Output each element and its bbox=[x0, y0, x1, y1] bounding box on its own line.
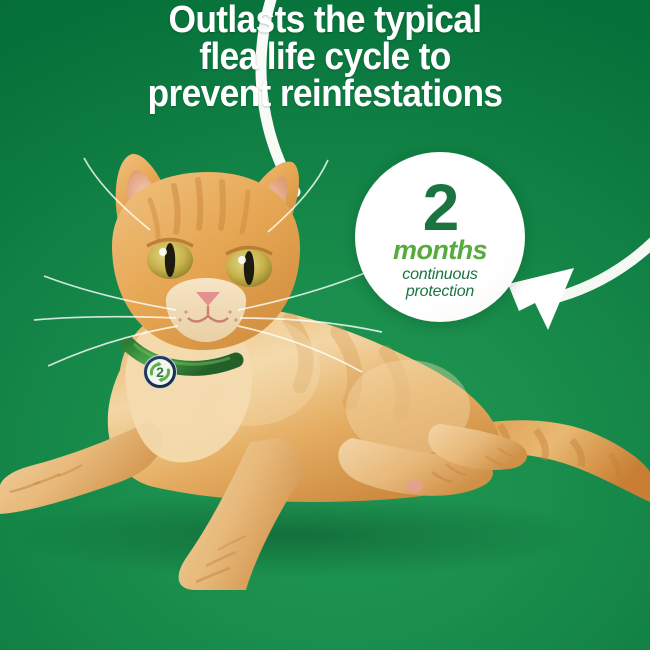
badge-subtext-line-2: protection bbox=[406, 283, 474, 300]
cat-tail bbox=[468, 420, 650, 502]
cat-paw-center bbox=[179, 438, 305, 590]
cat-photo bbox=[0, 120, 650, 590]
collar-tag: 2 bbox=[143, 355, 177, 389]
cat-ear-right bbox=[238, 162, 299, 234]
advertisement-banner: Outlasts the typical flea life cycle to … bbox=[0, 0, 650, 650]
headline-line-1: Outlasts the typical bbox=[23, 2, 628, 39]
cat-ear-left bbox=[116, 154, 174, 222]
cat-paw-left bbox=[0, 420, 162, 514]
cat-toe-bean bbox=[405, 480, 423, 492]
cat-body bbox=[108, 302, 501, 502]
headline-line-2: flea life cycle to bbox=[23, 39, 628, 76]
badge-unit-label: months bbox=[393, 237, 487, 263]
badge-number: 2 bbox=[423, 178, 458, 236]
cat-paw-right bbox=[338, 438, 493, 496]
ring-arrowhead-icon bbox=[508, 268, 574, 330]
cat-eye-right bbox=[226, 248, 272, 288]
cat-eye-left bbox=[147, 240, 193, 280]
cat-chest bbox=[125, 314, 252, 462]
cat-head bbox=[34, 154, 382, 372]
cat-nose bbox=[196, 292, 220, 306]
collar-tag-number: 2 bbox=[156, 365, 164, 379]
cat-front-legs bbox=[0, 420, 527, 590]
badge-subtext: continuous protection bbox=[402, 267, 477, 300]
duration-badge: 2 months continuous protection bbox=[355, 152, 525, 322]
continuous-cycle-ring-icon bbox=[0, 0, 650, 650]
cat-shadow bbox=[10, 491, 590, 579]
cat-paw-right-2 bbox=[428, 424, 527, 470]
cat-whiskers bbox=[34, 158, 382, 372]
badge-subtext-line-1: continuous bbox=[402, 266, 477, 283]
collar-tag-face: 2 bbox=[147, 359, 173, 385]
page-title: Outlasts the typical flea life cycle to … bbox=[0, 2, 650, 113]
headline-line-3: prevent reinfestations bbox=[23, 76, 628, 113]
cat-muzzle bbox=[166, 278, 246, 342]
